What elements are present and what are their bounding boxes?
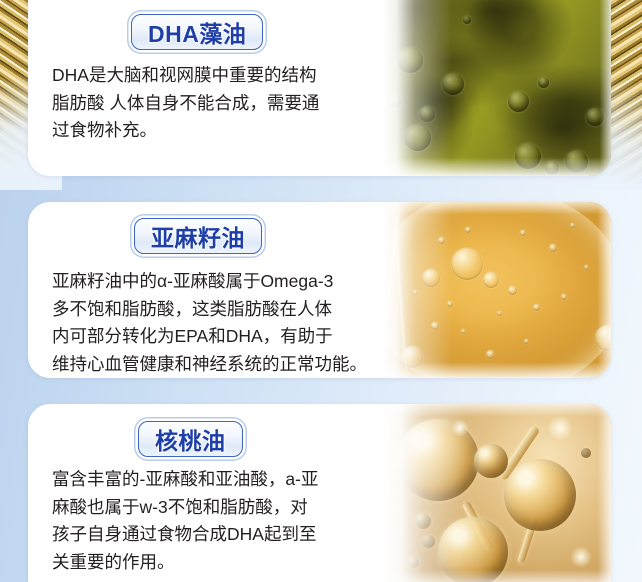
card-title-badge: DHA藻油 <box>131 14 263 50</box>
photo-edge-fade <box>383 0 611 176</box>
card-body-text: DHA是大脑和视网膜中重要的结构 脂肪酸 人体自身不能合成，需要通 过食物补充。 <box>52 62 382 145</box>
info-card-walnut-oil: 核桃油 富含丰富的-亚麻酸和亚油酸，a-亚 麻酸也属于w-3不饱和脂肪酸，对 孩… <box>28 404 611 582</box>
photo-edge-fade <box>383 404 611 582</box>
card-title-label: 亚麻籽油 <box>151 219 245 253</box>
info-card-list: DHA藻油 DHA是大脑和视网膜中重要的结构 脂肪酸 人体自身不能合成，需要通 … <box>0 0 642 582</box>
card-body-text: 富含丰富的-亚麻酸和亚油酸，a-亚 麻酸也属于w-3不饱和脂肪酸，对 孩子自身通… <box>52 466 382 576</box>
card-text-column: 核桃油 富含丰富的-亚麻酸和亚油酸，a-亚 麻酸也属于w-3不饱和脂肪酸，对 孩… <box>28 404 383 582</box>
info-card-linseed-oil: 亚麻籽油 亚麻籽油中的α-亚麻酸属于Omega-3 多不饱和脂肪酸，这类脂肪酸在… <box>28 202 611 378</box>
card-title-label: 核桃油 <box>155 422 226 456</box>
card-body-text: 亚麻籽油中的α-亚麻酸属于Omega-3 多不饱和脂肪酸，这类脂肪酸在人体 内可… <box>52 268 382 378</box>
card-photo-linseed-oil <box>383 202 611 378</box>
card-text-column: DHA藻油 DHA是大脑和视网膜中重要的结构 脂肪酸 人体自身不能合成，需要通 … <box>28 0 383 176</box>
card-text-column: 亚麻籽油 亚麻籽油中的α-亚麻酸属于Omega-3 多不饱和脂肪酸，这类脂肪酸在… <box>28 202 383 378</box>
photo-edge-fade <box>383 202 611 378</box>
card-photo-walnut-oil <box>383 404 611 582</box>
info-card-dha-algae-oil: DHA藻油 DHA是大脑和视网膜中重要的结构 脂肪酸 人体自身不能合成，需要通 … <box>28 0 611 176</box>
card-title-badge: 核桃油 <box>138 421 243 457</box>
card-title-label: DHA藻油 <box>148 15 246 49</box>
card-title-badge: 亚麻籽油 <box>134 218 262 254</box>
card-photo-algae-oil <box>383 0 611 176</box>
